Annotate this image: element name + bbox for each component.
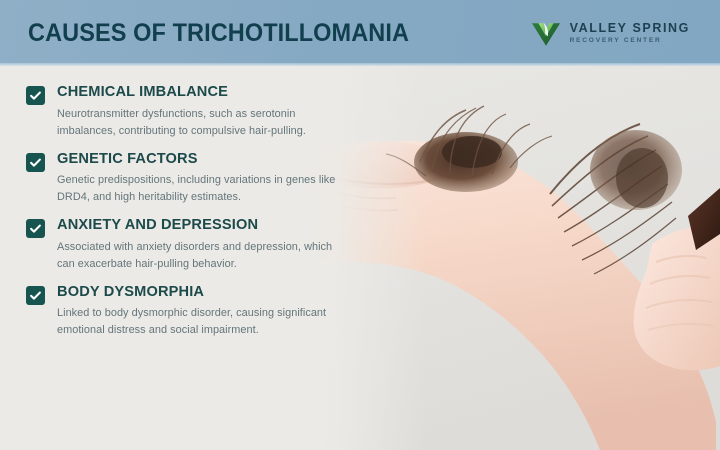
list-item-body: ANXIETY AND DEPRESSION Associated with a…: [57, 217, 376, 273]
list-item: GENETIC FACTORS Genetic predispositions,…: [26, 151, 376, 207]
checkmark-glyph: [29, 289, 42, 302]
cause-description: Linked to body dysmorphic disorder, caus…: [57, 305, 347, 339]
logo-name: VALLEY SPRING: [570, 22, 690, 35]
list-item: CHEMICAL IMBALANCE Neurotransmitter dysf…: [26, 84, 376, 140]
cause-title: GENETIC FACTORS: [57, 151, 376, 168]
list-item-body: GENETIC FACTORS Genetic predispositions,…: [57, 151, 376, 207]
page-header: CAUSES OF TRICHOTILLOMANIA: [0, 0, 720, 66]
causes-list: CHEMICAL IMBALANCE Neurotransmitter dysf…: [26, 84, 376, 339]
checkmark-icon: [26, 286, 45, 305]
valley-spring-v-mark-icon: [531, 20, 561, 47]
cause-title: BODY DYSMORPHIA: [57, 284, 376, 301]
brand-logo[interactable]: VALLEY SPRING RECOVERY CENTER: [531, 20, 698, 47]
list-item-body: BODY DYSMORPHIA Linked to body dysmorphi…: [57, 284, 376, 340]
list-item-body: CHEMICAL IMBALANCE Neurotransmitter dysf…: [57, 84, 376, 140]
checkmark-glyph: [29, 156, 42, 169]
v-mark-shape: [531, 20, 561, 47]
logo-subtitle: RECOVERY CENTER: [570, 38, 690, 45]
checkmark-icon: [26, 153, 45, 172]
cause-description: Associated with anxiety disorders and de…: [57, 239, 347, 273]
page-title: CAUSES OF TRICHOTILLOMANIA: [28, 19, 409, 48]
cause-description: Neurotransmitter dysfunctions, such as s…: [57, 106, 347, 140]
checkmark-glyph: [29, 222, 42, 235]
checkmark-glyph: [29, 89, 42, 102]
cause-title: ANXIETY AND DEPRESSION: [57, 217, 376, 234]
list-item: ANXIETY AND DEPRESSION Associated with a…: [26, 217, 376, 273]
checkmark-icon: [26, 86, 45, 105]
list-item: BODY DYSMORPHIA Linked to body dysmorphi…: [26, 284, 376, 340]
cause-description: Genetic predispositions, including varia…: [57, 172, 347, 206]
logo-wordmark: VALLEY SPRING RECOVERY CENTER: [570, 22, 690, 45]
checkmark-icon: [26, 219, 45, 238]
cause-title: CHEMICAL IMBALANCE: [57, 84, 376, 101]
